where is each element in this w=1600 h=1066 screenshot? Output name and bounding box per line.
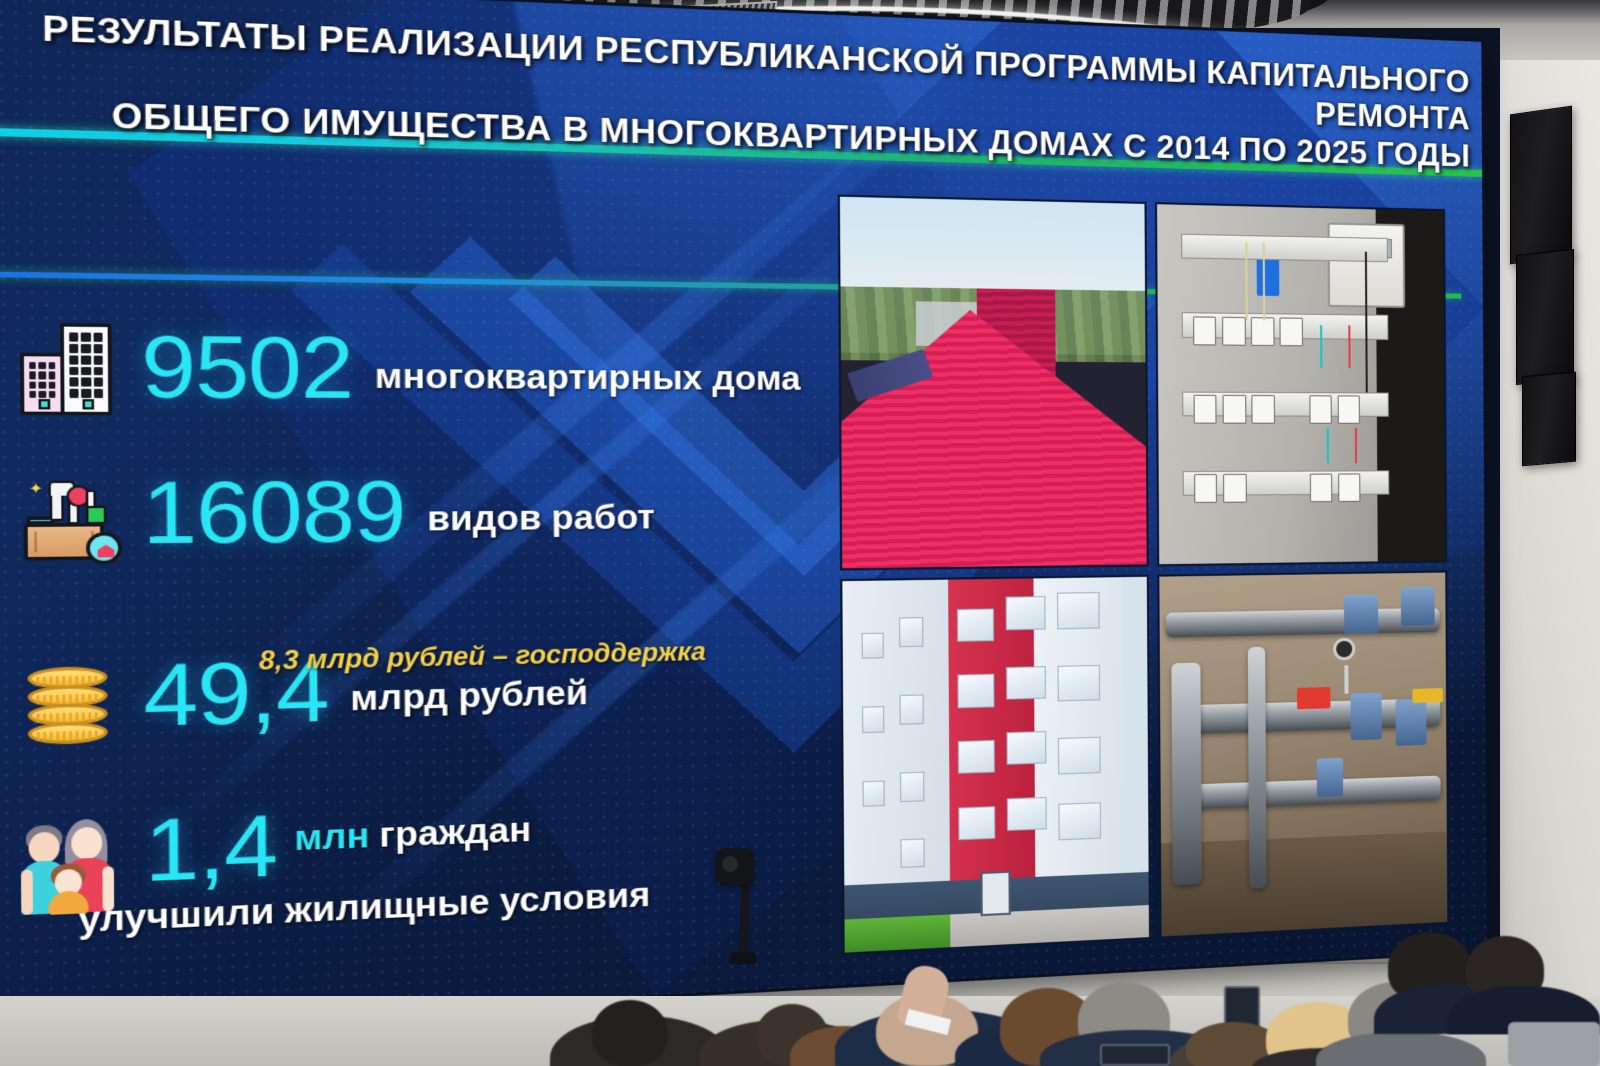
entrance-door: [980, 871, 1011, 916]
pipe-flange: [1396, 699, 1427, 745]
family-man-arm: [21, 870, 33, 915]
pressure-gauge: [1333, 637, 1355, 660]
ptz-camera-mount: [730, 952, 756, 964]
photo-pipes: [1157, 571, 1449, 939]
family-woman-arm: [102, 866, 114, 911]
coins-icon: [19, 646, 120, 747]
stat-value: 9502: [141, 322, 353, 412]
red-valve-handle: [1297, 687, 1331, 709]
stat-unit: млн: [294, 816, 370, 870]
pipe-flange: [1344, 595, 1378, 634]
family-icon: [21, 807, 122, 917]
pipe-flange: [1351, 693, 1382, 740]
conference-hall-scene: РЕЗУЛЬТАТЫ РЕАЛИЗАЦИИ РЕСПУБЛИКАНСКОЙ ПР…: [0, 0, 1600, 1066]
photo-facade: [840, 575, 1151, 955]
stat-label: граждан: [379, 810, 531, 867]
toolbox-icon: ✦: [18, 463, 119, 563]
family-man-head: [29, 832, 60, 864]
buildings-icon: [17, 316, 118, 416]
slide-photo-grid: [838, 195, 1450, 955]
pipe-flange: [1401, 587, 1435, 626]
stat-label: многоквартирных дома: [374, 339, 800, 399]
stat-value: 16089: [142, 467, 406, 557]
stat-row-apartment-buildings: 9502 многоквартирных дома: [17, 316, 859, 417]
pipe-flange: [1317, 758, 1343, 798]
stat-row-work-types: ✦ 16089 видов работ: [18, 462, 860, 563]
chair-back: [1508, 1022, 1600, 1066]
yellow-valve-handle: [1413, 688, 1444, 703]
stat-value: 1,4: [144, 801, 277, 895]
audience-person: [592, 1000, 668, 1066]
sparkle-icon: ✦: [29, 481, 43, 496]
line-array-speaker: [1510, 106, 1572, 265]
tablet-device: [1100, 1044, 1170, 1066]
photo-roof: [838, 195, 1149, 571]
stat-label: видов работ: [427, 481, 655, 540]
house-badge-icon: [86, 532, 122, 564]
line-array-speaker: [1516, 249, 1574, 385]
ptz-camera-lens: [722, 856, 738, 872]
photo-electrical-panel: [1155, 202, 1447, 566]
gauge-stem: [1345, 666, 1349, 695]
ptz-camera-pole: [739, 878, 749, 958]
line-array-speaker: [1522, 372, 1576, 467]
